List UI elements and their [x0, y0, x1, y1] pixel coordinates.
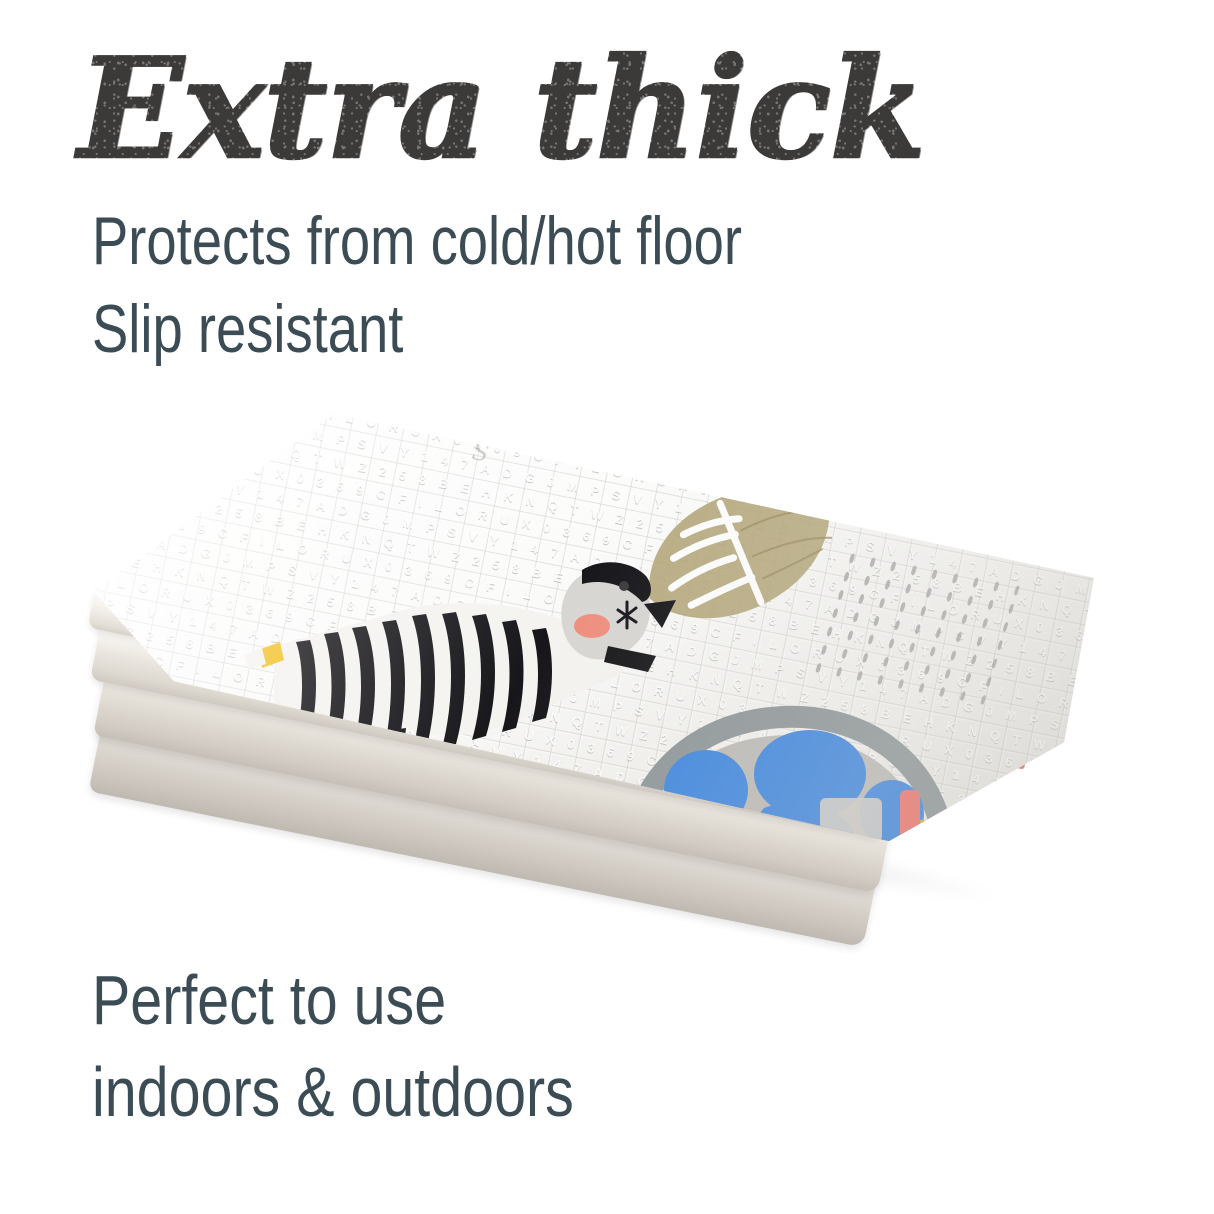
- page-headline: Extra thick: [78, 34, 898, 184]
- product-marketing-image: Extra thick Protects from cold/hot floor…: [0, 0, 1214, 1214]
- brand-logo-mark: S: [469, 437, 508, 473]
- benefit-line-1: Protects from cold/hot floor: [92, 200, 742, 282]
- benefit-line-2: Slip resistant: [92, 288, 403, 370]
- usage-line-2: indoors & outdoors: [92, 1050, 574, 1134]
- usage-line-1: Perfect to use: [92, 958, 446, 1042]
